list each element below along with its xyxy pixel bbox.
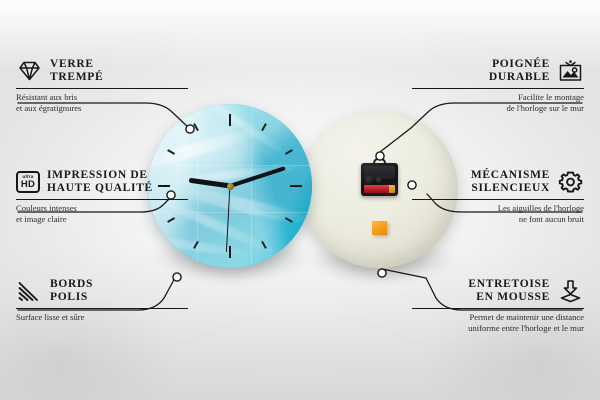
feature-title-line1: ENTRETOISE bbox=[468, 278, 550, 291]
feature-title: BORDS POLIS bbox=[50, 278, 93, 304]
feature-poignee-durable: POIGNÉE DURABLE Facilite le montage de l… bbox=[412, 58, 584, 114]
feature-desc-line2: de l'horloge sur le mur bbox=[412, 103, 584, 114]
feature-divider bbox=[16, 199, 188, 200]
clock-hand-cap bbox=[227, 183, 234, 190]
feature-description: Résistant aux bris et aux égratignures bbox=[16, 92, 188, 113]
feature-title: POIGNÉE DURABLE bbox=[489, 58, 550, 84]
feature-header: VERRE TREMPÉ bbox=[16, 58, 188, 84]
feature-title-line2: EN MOUSSE bbox=[468, 291, 550, 304]
battery bbox=[364, 185, 395, 193]
feature-divider bbox=[412, 308, 584, 309]
feature-bords-polis: BORDS POLIS Surface lisse et sûre bbox=[16, 278, 188, 323]
feature-title-line1: VERRE bbox=[50, 58, 103, 71]
feature-desc-line2: et image claire bbox=[16, 214, 188, 225]
feature-title-line2: SILENCIEUX bbox=[471, 182, 550, 195]
feature-desc-line2: et aux égratignures bbox=[16, 103, 188, 114]
feature-desc-line1: Facilite le montage bbox=[412, 92, 584, 103]
ultra-hd-badge-icon: ultra HD bbox=[16, 171, 40, 193]
diamond-icon bbox=[16, 59, 43, 83]
feature-mecanisme-silencieux: MÉCANISME SILENCIEUX Les aiguilles de l'… bbox=[412, 169, 584, 225]
feature-title-line1: POIGNÉE bbox=[489, 58, 550, 71]
callout-dot-entretoise bbox=[378, 269, 386, 277]
feature-title-line1: BORDS bbox=[50, 278, 93, 291]
feature-description: Les aiguilles de l'horloge ne font aucun… bbox=[412, 203, 584, 224]
feature-description: Couleurs intenses et image claire bbox=[16, 203, 188, 224]
feature-description: Facilite le montage de l'horloge sur le … bbox=[412, 92, 584, 113]
feature-title: VERRE TREMPÉ bbox=[50, 58, 103, 84]
feature-description: Surface lisse et sûre bbox=[16, 312, 188, 323]
mechanism-knob-large bbox=[365, 176, 373, 184]
feature-impression-haute-qualite: ultra HD IMPRESSION DE HAUTE QUALITÉ Cou… bbox=[16, 169, 188, 225]
feature-title-line2: HAUTE QUALITÉ bbox=[47, 182, 153, 195]
mechanism-knob-small bbox=[376, 177, 382, 183]
clock-mechanism bbox=[361, 163, 398, 196]
feature-desc-line2: uniforme entre l'horloge et le mur bbox=[412, 323, 584, 334]
feature-header: ultra HD IMPRESSION DE HAUTE QUALITÉ bbox=[16, 169, 188, 195]
foam-spacer bbox=[372, 221, 387, 235]
feature-header: MÉCANISME SILENCIEUX bbox=[412, 169, 584, 195]
leader-line-entretoise-tail bbox=[382, 269, 426, 278]
feature-title-line1: IMPRESSION DE bbox=[47, 169, 153, 182]
diagonal-lines-icon bbox=[16, 279, 43, 303]
feature-divider bbox=[16, 88, 188, 89]
feature-title: ENTRETOISE EN MOUSSE bbox=[468, 278, 550, 304]
gear-icon bbox=[557, 170, 584, 194]
hd-badge-main-text: HD bbox=[21, 180, 35, 190]
feature-verre-trempe: VERRE TREMPÉ Résistant aux bris et aux é… bbox=[16, 58, 188, 114]
feature-title: IMPRESSION DE HAUTE QUALITÉ bbox=[47, 169, 153, 195]
arrow-press-layers-icon bbox=[557, 279, 584, 303]
feature-header: POIGNÉE DURABLE bbox=[412, 58, 584, 84]
feature-divider bbox=[16, 308, 188, 309]
infographic-canvas: VERRE TREMPÉ Résistant aux bris et aux é… bbox=[0, 0, 600, 400]
feature-description: Permet de maintenir une distance uniform… bbox=[412, 312, 584, 333]
feature-desc-line1: Couleurs intenses bbox=[16, 203, 188, 214]
feature-desc-line1: Les aiguilles de l'horloge bbox=[412, 203, 584, 214]
feature-entretoise-en-mousse: ENTRETOISE EN MOUSSE Permet de maintenir… bbox=[412, 278, 584, 334]
feature-divider bbox=[412, 88, 584, 89]
feature-title-line2: POLIS bbox=[50, 291, 93, 304]
feature-desc-line1: Surface lisse et sûre bbox=[16, 312, 188, 323]
battery-terminal bbox=[389, 185, 395, 193]
feature-divider bbox=[412, 199, 584, 200]
feature-title-line2: TREMPÉ bbox=[50, 71, 103, 84]
feature-desc-line1: Résistant aux bris bbox=[16, 92, 188, 103]
feature-title: MÉCANISME SILENCIEUX bbox=[471, 169, 550, 195]
feature-header: BORDS POLIS bbox=[16, 278, 188, 304]
feature-desc-line2: ne font aucun bruit bbox=[412, 214, 584, 225]
feature-desc-line1: Permet de maintenir une distance bbox=[412, 312, 584, 323]
picture-frame-icon bbox=[557, 59, 584, 83]
feature-title-line2: DURABLE bbox=[489, 71, 550, 84]
feature-header: ENTRETOISE EN MOUSSE bbox=[412, 278, 584, 304]
hanging-tab-icon bbox=[373, 158, 386, 165]
feature-title-line1: MÉCANISME bbox=[471, 169, 550, 182]
